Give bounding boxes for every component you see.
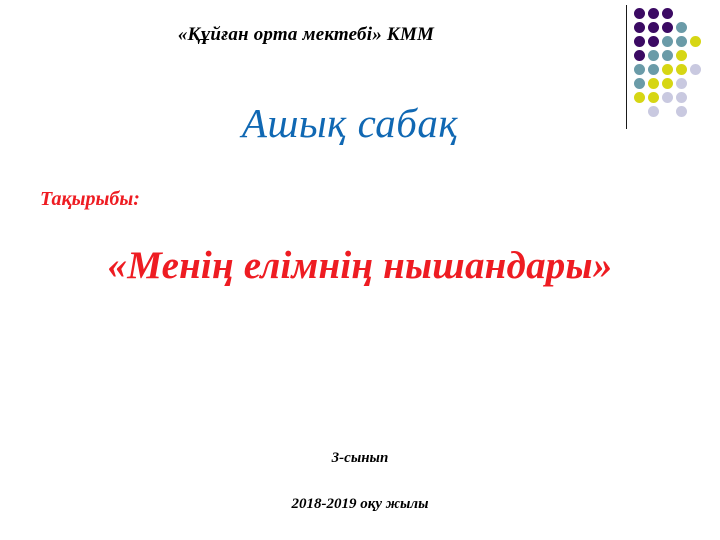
decorative-dot xyxy=(662,36,673,47)
decorative-dot xyxy=(648,8,659,19)
lesson-topic-title: «Менің елімнің нышандары» xyxy=(0,243,720,288)
decorative-dot xyxy=(676,36,687,47)
decorative-dot xyxy=(662,78,673,89)
decorative-dot xyxy=(634,78,645,89)
decorative-dot xyxy=(690,64,701,75)
decorative-dot xyxy=(634,8,645,19)
decorative-dot xyxy=(648,50,659,61)
decorative-dot xyxy=(648,22,659,33)
decorative-dot xyxy=(662,64,673,75)
decorative-dot xyxy=(676,22,687,33)
decorative-dot xyxy=(676,50,687,61)
decorative-dot xyxy=(676,64,687,75)
decorative-dot xyxy=(662,50,673,61)
decorative-dot xyxy=(634,50,645,61)
decorative-dot xyxy=(648,64,659,75)
decorative-dot xyxy=(662,8,673,19)
decorative-dot xyxy=(648,78,659,89)
decorative-dot xyxy=(662,22,673,33)
lesson-type-title: Ашық сабақ xyxy=(0,99,700,147)
school-name-header: «Құйған орта мектебі» КММ xyxy=(0,24,612,46)
topic-label: Тақырыбы: xyxy=(40,188,140,211)
academic-year-text: 2018-2019 оқу жылы xyxy=(0,496,720,513)
grade-text: 3-сынып xyxy=(0,450,720,467)
decorative-dot xyxy=(690,36,701,47)
decorative-dot xyxy=(634,64,645,75)
decorative-dot xyxy=(648,36,659,47)
decorative-dot xyxy=(634,36,645,47)
decorative-dot xyxy=(676,78,687,89)
presentation-slide: «Құйған орта мектебі» КММ Ашық сабақ Тақ… xyxy=(0,0,720,540)
decorative-dot xyxy=(634,22,645,33)
